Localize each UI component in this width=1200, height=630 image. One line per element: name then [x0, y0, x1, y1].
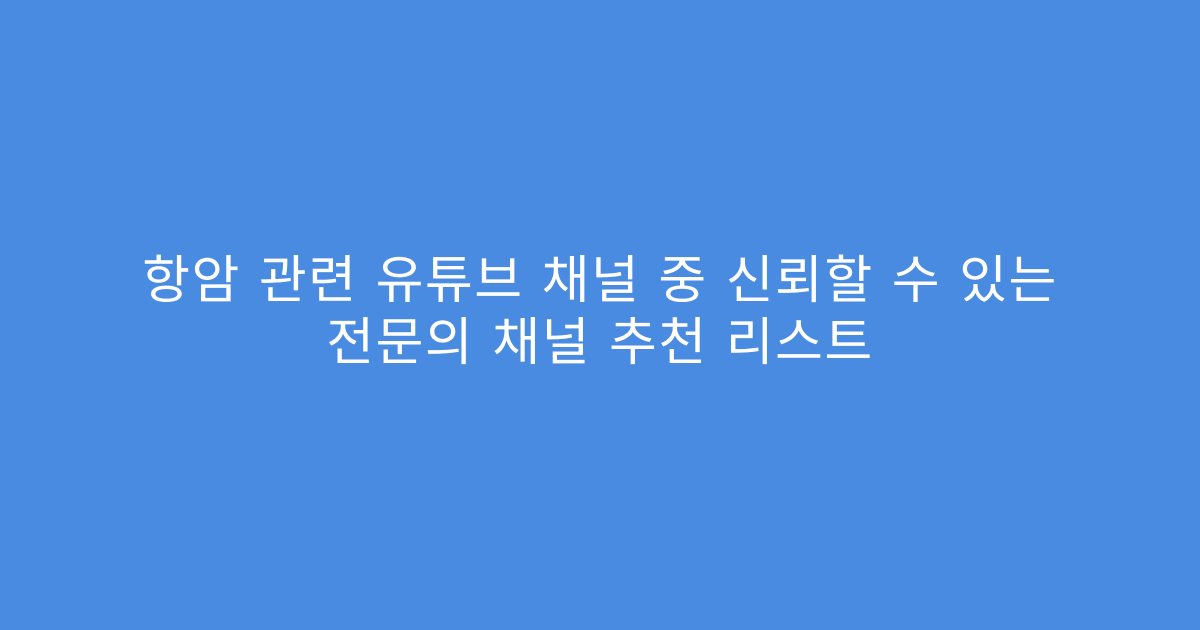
headline-container: 항암 관련 유튜브 채널 중 신뢰할 수 있는 전문의 채널 추천 리스트	[70, 250, 1130, 374]
page-title: 항암 관련 유튜브 채널 중 신뢰할 수 있는 전문의 채널 추천 리스트	[70, 250, 1130, 374]
og-card: 항암 관련 유튜브 채널 중 신뢰할 수 있는 전문의 채널 추천 리스트	[0, 0, 1200, 630]
